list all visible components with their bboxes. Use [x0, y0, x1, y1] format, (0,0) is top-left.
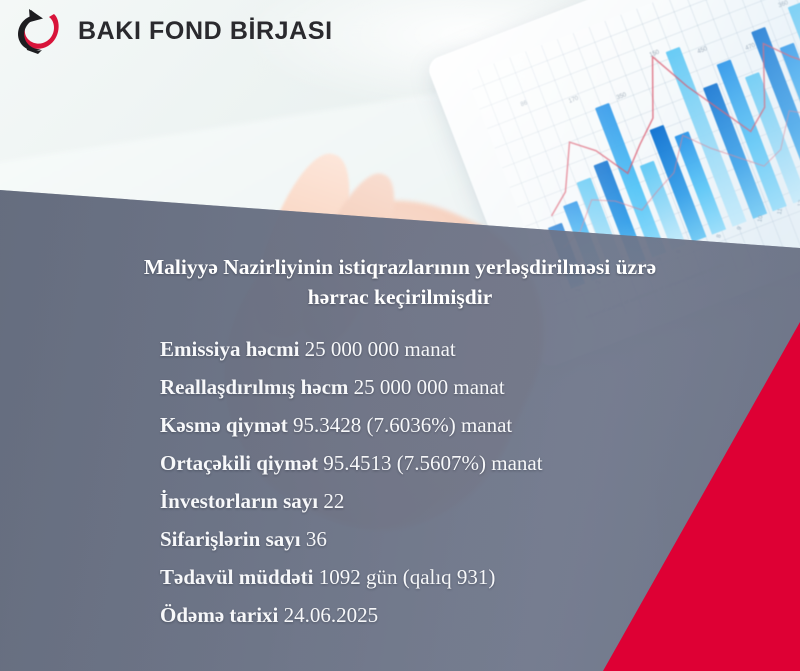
detail-label: Sifarişlərin sayı — [160, 527, 306, 551]
detail-value: 22 — [323, 489, 344, 513]
detail-label: Reallaşdırılmış həcm — [160, 375, 354, 399]
auction-details-list: Emissiya həcmi 25 000 000 manatReallaşdı… — [0, 330, 800, 634]
detail-value: 24.06.2025 — [284, 603, 379, 627]
page-title: Maliyyə Nazirliyinin istiqrazlarının yer… — [68, 252, 732, 312]
chart-tick-label: 9 — [737, 226, 744, 230]
detail-label: Ortaçəkili qiymət — [160, 451, 323, 475]
detail-value: 25 000 000 manat — [354, 375, 505, 399]
detail-row: Reallaşdırılmış həcm 25 000 000 manat — [0, 368, 800, 406]
detail-value: 25 000 000 manat — [305, 337, 456, 361]
detail-value: 95.3428 (7.6036%) manat — [293, 413, 512, 437]
detail-row: Tədavül müddəti 1092 gün (qalıq 931) — [0, 558, 800, 596]
bfb-arrow-ring-icon — [14, 8, 68, 54]
detail-label: Tədavül müddəti — [160, 565, 319, 589]
brand-logo[interactable]: BAKI FOND BİRJASI — [14, 8, 333, 54]
headline-line-2: hərrac keçirilmişdir — [308, 285, 492, 309]
brand-name: BAKI FOND BİRJASI — [78, 17, 333, 46]
chart-tick-label: 10 — [757, 215, 764, 223]
detail-value: 95.4513 (7.5607%) manat — [323, 451, 542, 475]
detail-label: Ödəmə tarixi — [160, 603, 284, 627]
detail-value: 1092 gün (qalıq 931) — [319, 565, 496, 589]
detail-row: Sifarişlərin sayı 36 — [0, 520, 800, 558]
chart-tick-label: 8 — [717, 234, 724, 238]
detail-value: 36 — [306, 527, 327, 551]
detail-row: Ödəmə tarixi 24.06.2025 — [0, 596, 800, 634]
headline-line-1: Maliyyə Nazirliyinin istiqrazlarının yer… — [144, 255, 656, 279]
detail-row: İnvestorların sayı 22 — [0, 482, 800, 520]
detail-label: Kəsmə qiymət — [160, 413, 293, 437]
detail-row: Ortaçəkili qiymət 95.4513 (7.5607%) mana… — [0, 444, 800, 482]
detail-row: Kəsmə qiymət 95.3428 (7.6036%) manat — [0, 406, 800, 444]
chart-tick-label: 11 — [777, 208, 784, 215]
detail-row: Emissiya həcmi 25 000 000 manat — [0, 330, 800, 368]
announcement-card: 12345678910111213141516 8617035015045047… — [0, 0, 800, 671]
detail-label: Emissiya həcmi — [160, 337, 305, 361]
detail-label: İnvestorların sayı — [160, 489, 323, 513]
